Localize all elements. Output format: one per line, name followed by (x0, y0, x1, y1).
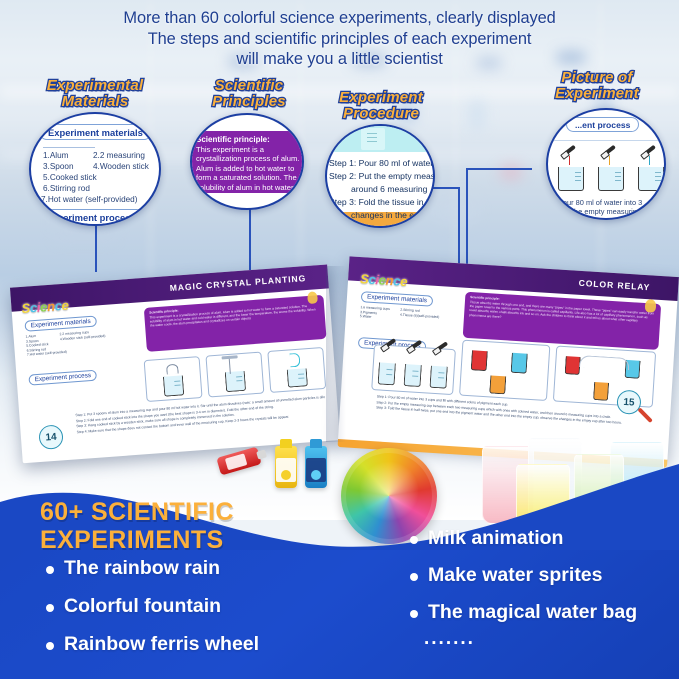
material-item: 5.Cooked stick (43, 173, 97, 182)
dropper-icon (564, 145, 576, 156)
left-page-logo: Science (21, 298, 69, 316)
material-item: 1.Alum (43, 151, 68, 160)
experiment-list-item: Colorful fountain (64, 595, 221, 618)
material-item: 2.2 measuring (93, 151, 145, 160)
callout-label-experimental-materials: Experimental Materials (16, 78, 174, 109)
book-right-page: COLOR RELAY Science Experiment materials… (338, 256, 679, 460)
materials-panel-footer: Experiment process (37, 209, 145, 225)
banner-title: 60+ SCIENTIFIC EXPERIMENTS (40, 498, 234, 554)
callout-label-line2: Procedure (318, 106, 444, 122)
material-item: 7.Hot water (self-provided) (41, 195, 137, 204)
headline-line-2: The steps and scientific principles of e… (0, 29, 679, 50)
callout-label-line1: Experiment (318, 90, 444, 106)
bottom-banner: 60+ SCIENTIFIC EXPERIMENTS The rainbow r… (0, 460, 679, 679)
callout-label-experiment-procedure: Experiment Procedure (318, 90, 444, 121)
callout-label-line1: Scientific (184, 78, 314, 94)
banner-title-line2: EXPERIMENTS (40, 526, 234, 554)
procedure-step: around 6 measuring (351, 184, 427, 194)
connector-line-picture-h (466, 168, 532, 170)
bullet-dot (410, 536, 418, 544)
book-spine (326, 266, 346, 442)
callout-label-line2: Experiment (528, 86, 666, 102)
picture-caption: the empty measuring (572, 207, 641, 216)
left-materials-list: 1.Alum 2.2 measuring cups 3.Spoon 4.Wood… (25, 327, 134, 358)
experiment-list-item: Milk animation (428, 527, 563, 550)
dropper-icon (644, 145, 656, 156)
callout-label-picture-of-experiment: Picture of Experiment (528, 70, 666, 101)
magnifier-experimental-materials: Experiment materials 1.Alum 2.2 measurin… (29, 112, 161, 226)
callout-label-line2: Principles (184, 94, 314, 110)
bullet-dot (410, 573, 418, 581)
bullet-dot (410, 610, 418, 618)
ellipsis-text: ....... (424, 628, 475, 650)
beaker-icon (558, 167, 584, 191)
principle-panel: Scientific principle: This experiment is… (190, 131, 304, 193)
left-page-number: 14 (38, 424, 64, 450)
right-page-logo: Science (360, 271, 408, 289)
material-item: 4.Wooden stick (93, 162, 149, 171)
right-materials-list: 1.6 measuring cups 2.Stirring rod 3.Pigm… (360, 305, 471, 326)
beaker-icon (598, 167, 624, 191)
principle-title: Scientific principle: (196, 135, 270, 144)
callout-label-line2: Materials (16, 94, 174, 110)
book-left-page: MAGIC CRYSTAL PLANTING Science Experimen… (10, 264, 340, 463)
bullet-dot (46, 604, 54, 612)
dropper-icon (604, 145, 616, 156)
magnifier-experiment-procedure: Step 1: Pour 80 ml of water Step 2: Put … (325, 124, 435, 228)
page-headline: More than 60 colorful science experiment… (0, 8, 679, 70)
open-book-photo: MAGIC CRYSTAL PLANTING Science Experimen… (0, 248, 679, 460)
left-pill-process: Experiment process (28, 370, 97, 386)
headline-line-3: will make you a little scientist (0, 49, 679, 70)
experiment-list-item: Rainbow ferris wheel (64, 633, 259, 656)
callout-label-scientific-principles: Scientific Principles (184, 78, 314, 109)
experiment-list-item: Make water sprites (428, 564, 603, 587)
picture-panel-title: ...ent process (566, 117, 639, 132)
procedure-step: Step 2: Put the empty measuring (329, 171, 435, 181)
experiment-list-item: The rainbow rain (64, 557, 220, 580)
procedure-step: Step 1: Pour 80 ml of water (329, 158, 433, 168)
product-marketing-image: More than 60 colorful science experiment… (0, 0, 679, 679)
bullet-dot (46, 642, 54, 650)
material-item: 3.Spoon (43, 162, 74, 171)
picture-caption: Pour 80 ml of water into 3 (558, 198, 642, 207)
left-steps: Step 1: Put 3 spoons of alum into a meas… (75, 395, 326, 436)
procedure-step: Step 3: Fold the tissue in half (329, 197, 435, 207)
bullet-dot (46, 566, 54, 574)
magnifier-picture-of-experiment: ...ent process Pour 80 ml of water into … (546, 108, 666, 220)
beaker-icon (638, 167, 664, 191)
materials-panel-title: Experiment materials (39, 124, 152, 140)
banner-title-line1: 60+ SCIENTIFIC (40, 498, 234, 526)
experiment-list-item: The magical water bag (428, 601, 637, 624)
material-item: 6.Stirring rod (43, 184, 90, 193)
headline-line-1: More than 60 colorful science experiment… (0, 8, 679, 29)
magnifier-scientific-principles: Scientific principle: This experiment is… (190, 113, 304, 210)
right-pill-materials: Experiment materials (361, 291, 434, 307)
procedure-step: changes in the empty (351, 210, 433, 220)
callout-label-line1: Experimental (16, 78, 174, 94)
callout-label-line1: Picture of (528, 70, 666, 86)
principle-body: This experiment is a crystallization pro… (196, 145, 300, 191)
